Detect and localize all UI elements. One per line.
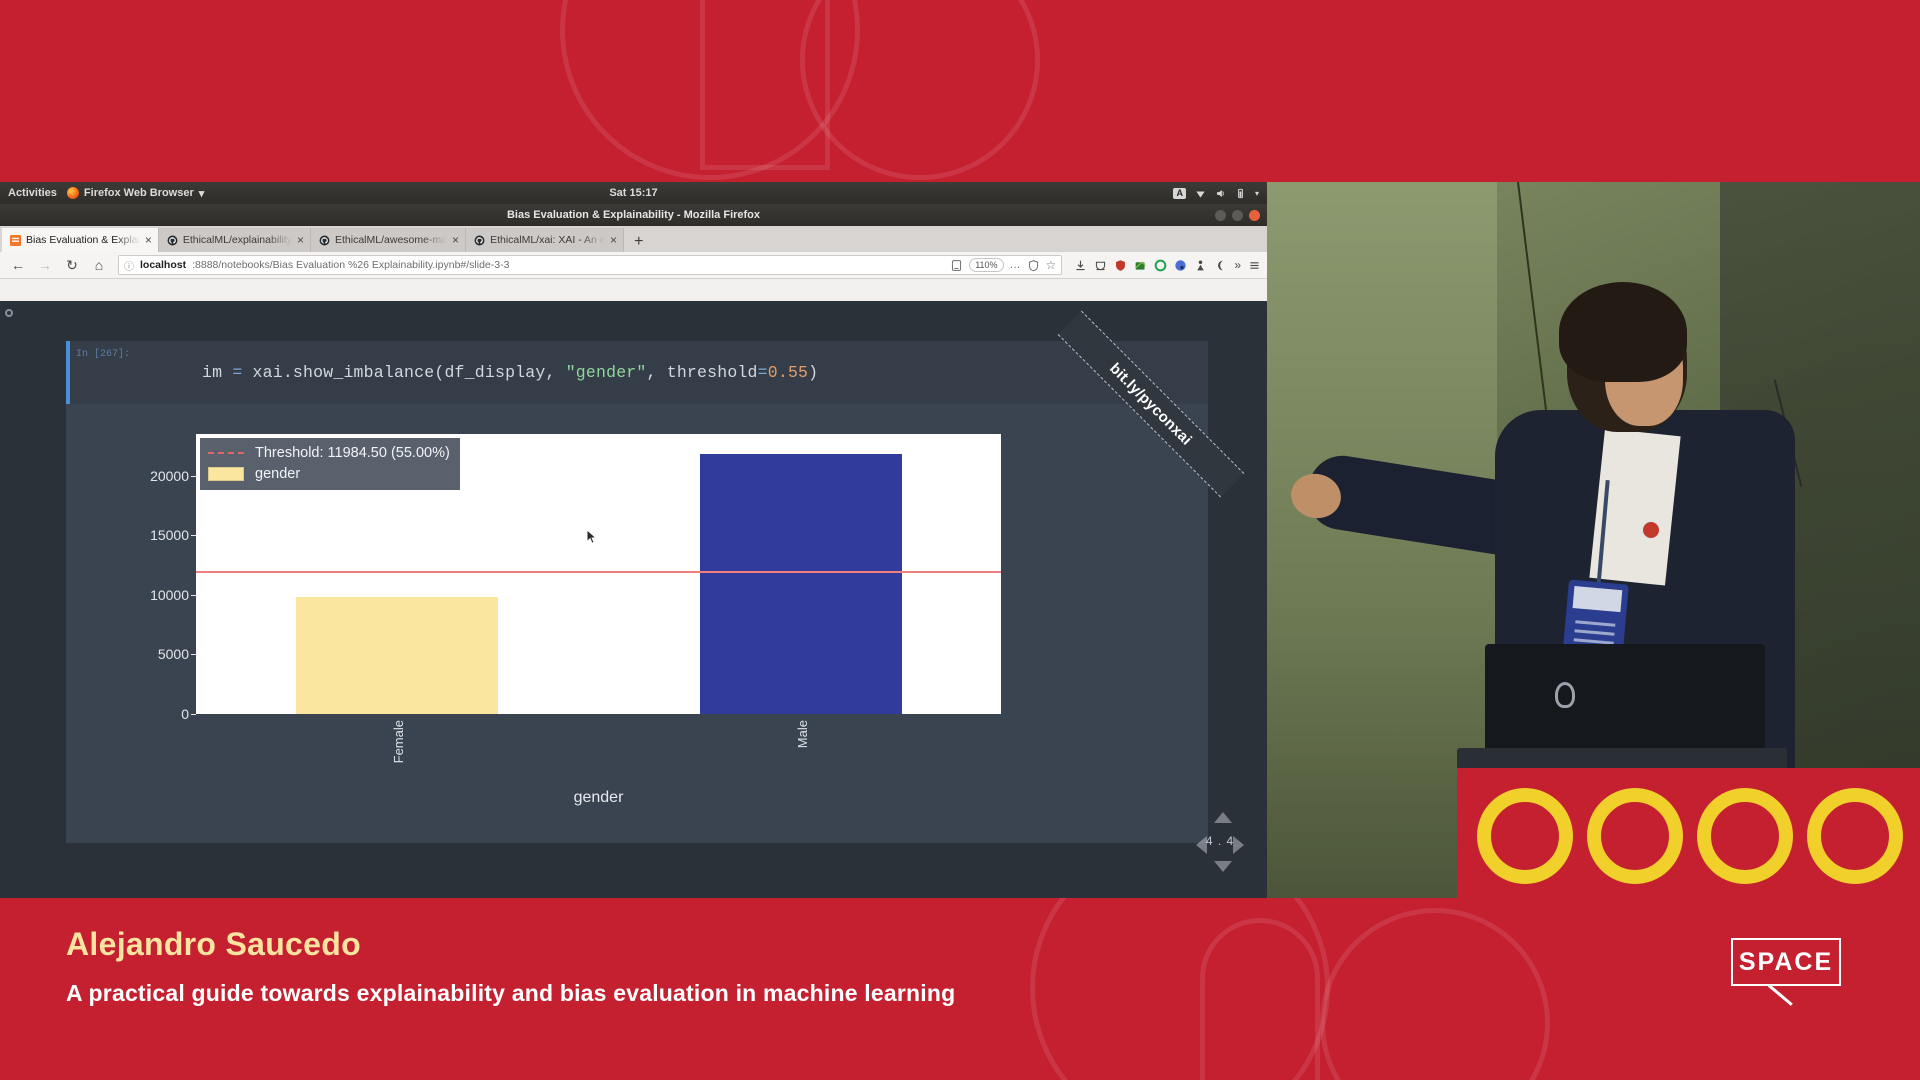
legend-item-gender: gender: [208, 466, 450, 482]
y-tick-label: 5000: [158, 646, 189, 662]
y-tick-mark: [191, 714, 196, 715]
code-operator: =: [232, 363, 242, 382]
gnome-top-panel: Activities Firefox Web Browser ▾ Sat 15:…: [0, 182, 1267, 204]
podium-swirl: [1807, 788, 1903, 884]
y-tick-mark: [191, 654, 196, 655]
screenshot-icon[interactable]: [1134, 259, 1147, 272]
backdrop-rect: [700, 0, 830, 170]
jupyter-icon: [10, 235, 21, 246]
close-button[interactable]: [1249, 210, 1260, 221]
y-tick-label: 15000: [150, 527, 189, 543]
close-icon[interactable]: ×: [145, 234, 152, 246]
volume-icon: [1215, 188, 1226, 199]
y-tick-mark: [191, 476, 196, 477]
jupyter-notebook-slide: In [267]: im = xai.show_imbalance(df_dis…: [0, 301, 1267, 898]
chart-output: 20000 15000 10000 5000 0: [196, 434, 1001, 714]
y-tick-mark: [191, 595, 196, 596]
url-bar[interactable]: ⓘ localhost :8888/notebooks/Bias Evaluat…: [118, 255, 1062, 275]
panel-clock[interactable]: Sat 15:17: [609, 187, 657, 199]
window-title: Bias Evaluation & Explainability - Mozil…: [507, 209, 760, 221]
reader-view-icon[interactable]: [950, 259, 963, 272]
extensions-toolbar[interactable]: »: [1069, 258, 1261, 272]
tab-ethicalml-xai[interactable]: EthicalML/xai: XAI - An e ×: [466, 228, 624, 252]
close-icon[interactable]: ×: [297, 234, 304, 246]
x-tick-label-male: Male: [795, 720, 810, 748]
back-button[interactable]: ←: [6, 254, 30, 276]
badge-text-lines: [1575, 620, 1615, 626]
y-tick-mark: [191, 535, 196, 536]
overflow-icon[interactable]: »: [1234, 258, 1241, 272]
tab-title: EthicalML/awesome-ma: [335, 234, 447, 246]
reload-button[interactable]: ↻: [60, 254, 84, 276]
bar-female: [296, 597, 498, 714]
minimize-button[interactable]: [1215, 210, 1226, 221]
banner-rect-art: [1200, 918, 1320, 1080]
x-axis-label: gender: [196, 789, 1001, 807]
rise-slide: In [267]: im = xai.show_imbalance(df_dis…: [66, 341, 1208, 843]
code-number: 0.55: [768, 363, 808, 382]
tab-title: Bias Evaluation & Explai: [26, 234, 140, 246]
bar-male: [700, 454, 902, 714]
nav-down-arrow-icon[interactable]: [1214, 861, 1232, 872]
tab-bias-evaluation[interactable]: Bias Evaluation & Explai ×: [2, 228, 159, 252]
activities-button[interactable]: Activities: [0, 187, 67, 199]
circle-extension-icon[interactable]: [1154, 259, 1167, 272]
shield-icon[interactable]: [1027, 259, 1040, 272]
page-info-icon[interactable]: ⓘ: [124, 258, 134, 273]
keyboard-layout-indicator[interactable]: A: [1173, 188, 1186, 199]
system-tray[interactable]: A ▾: [1173, 188, 1259, 199]
laptop-logo-icon: [1555, 682, 1575, 708]
code-part3: , threshold: [647, 363, 758, 382]
code-part4: ): [808, 363, 818, 382]
bookmark-icon[interactable]: ☆: [1046, 258, 1057, 272]
close-icon[interactable]: ×: [610, 234, 617, 246]
screen-share-region: Activities Firefox Web Browser ▾ Sat 15:…: [0, 182, 1267, 898]
slide-number: 4 . 4: [1196, 834, 1244, 848]
legend-label: Threshold: 11984.50 (55.00%): [255, 445, 450, 461]
shield-extension-icon[interactable]: [1114, 259, 1127, 272]
y-tick-label: 10000: [150, 587, 189, 603]
cell-source[interactable]: im = xai.show_imbalance(df_display, "gen…: [70, 363, 818, 382]
chevron-down-icon[interactable]: ▾: [1255, 189, 1259, 198]
downloads-icon[interactable]: [1074, 259, 1087, 272]
y-tick-label: 20000: [150, 468, 189, 484]
pocket-icon[interactable]: [1094, 259, 1107, 272]
backdrop-circle: [800, 0, 1040, 180]
navigation-toolbar: ← → ↻ ⌂ ⓘ localhost :8888/notebooks/Bias…: [0, 252, 1267, 279]
dark-extension-icon[interactable]: [1214, 259, 1227, 272]
window-titlebar: Bias Evaluation & Explainability - Mozil…: [0, 204, 1267, 226]
forward-button[interactable]: →: [33, 254, 57, 276]
code-cell[interactable]: In [267]: im = xai.show_imbalance(df_dis…: [66, 341, 1208, 404]
bar-chart-plot-area: 20000 15000 10000 5000 0: [196, 434, 1001, 714]
chart-legend: Threshold: 11984.50 (55.00%) gender: [200, 438, 460, 490]
close-icon[interactable]: ×: [452, 234, 459, 246]
tab-title: EthicalML/explainability: [183, 234, 292, 246]
lapel-pin: [1641, 520, 1661, 540]
podium-swirl: [1587, 788, 1683, 884]
laptop: [1485, 644, 1765, 762]
speaker-video-feed: [1267, 182, 1920, 898]
code-part2: xai.show_imbalance(df_display,: [242, 363, 565, 382]
podium-swirl: [1477, 788, 1573, 884]
person-extension-icon[interactable]: [1194, 259, 1207, 272]
tab-strip: Bias Evaluation & Explai × EthicalML/exp…: [0, 226, 1267, 252]
battery-icon: [1235, 188, 1246, 199]
code-string: "gender": [566, 363, 647, 382]
chevron-down-icon: ▾: [199, 187, 205, 200]
tab-ethicalml-awesome[interactable]: EthicalML/awesome-ma ×: [311, 228, 466, 252]
legend-label: gender: [255, 466, 300, 482]
code-part1: im: [202, 363, 232, 382]
color-swatch-icon: [208, 467, 244, 481]
url-path: :8888/notebooks/Bias Evaluation %26 Expl…: [192, 259, 509, 271]
new-tab-button[interactable]: +: [624, 234, 653, 252]
github-icon: [167, 235, 178, 246]
tab-title: EthicalML/xai: XAI - An e: [490, 234, 605, 246]
podium-swirl: [1697, 788, 1793, 884]
firefox-app-menu[interactable]: Firefox Web Browser ▾: [67, 187, 204, 200]
logo-text: SPACE: [1731, 938, 1841, 986]
github-icon: [319, 235, 330, 246]
home-button[interactable]: ⌂: [87, 254, 111, 276]
url-bar-actions[interactable]: 110% … ☆: [950, 258, 1056, 272]
github-icon: [474, 235, 485, 246]
threshold-line: [196, 571, 1001, 573]
legend-item-threshold: Threshold: 11984.50 (55.00%): [208, 445, 450, 461]
bitly-ribbon: bit.ly/pyconxai: [1058, 311, 1245, 498]
maximize-button[interactable]: [1232, 210, 1243, 221]
firefox-icon: [67, 187, 79, 199]
menu-icon[interactable]: [1248, 259, 1261, 272]
window-controls[interactable]: [1215, 210, 1260, 221]
code-operator: =: [758, 363, 768, 382]
wifi-icon: [1195, 188, 1206, 199]
speaker-hair: [1559, 282, 1687, 382]
rise-indicator-icon: [5, 309, 13, 317]
space-logo: SPACE: [1731, 938, 1841, 986]
app-menu-label: Firefox Web Browser: [84, 187, 194, 199]
badge-header: [1573, 586, 1623, 612]
mouse-cursor-icon: [586, 529, 597, 545]
page-actions-icon[interactable]: …: [1010, 259, 1021, 271]
rise-navigation-control[interactable]: 4 . 4: [1196, 812, 1244, 872]
tab-ethicalml-explainability[interactable]: EthicalML/explainability ×: [159, 228, 311, 252]
dashed-line-icon: [208, 452, 244, 454]
banner-circle-art: [1320, 908, 1550, 1080]
talk-title: A practical guide towards explainability…: [66, 980, 955, 1007]
zoom-level-indicator[interactable]: 110%: [969, 258, 1003, 272]
conference-stage-frame: Activities Firefox Web Browser ▾ Sat 15:…: [0, 0, 1920, 1080]
cell-prompt: In [267]:: [76, 349, 130, 360]
x-tick-label-female: Female: [391, 720, 406, 763]
privacy-extension-icon[interactable]: [1174, 259, 1187, 272]
y-tick-label: 0: [181, 706, 189, 722]
nav-up-arrow-icon[interactable]: [1214, 812, 1232, 823]
url-host: localhost: [140, 259, 186, 271]
podium-surface: [1457, 748, 1787, 770]
firefox-window: Bias Evaluation & Explainability - Mozil…: [0, 204, 1267, 898]
speaker-name: Alejandro Saucedo: [66, 926, 361, 963]
podium-graphic: [1457, 768, 1920, 898]
